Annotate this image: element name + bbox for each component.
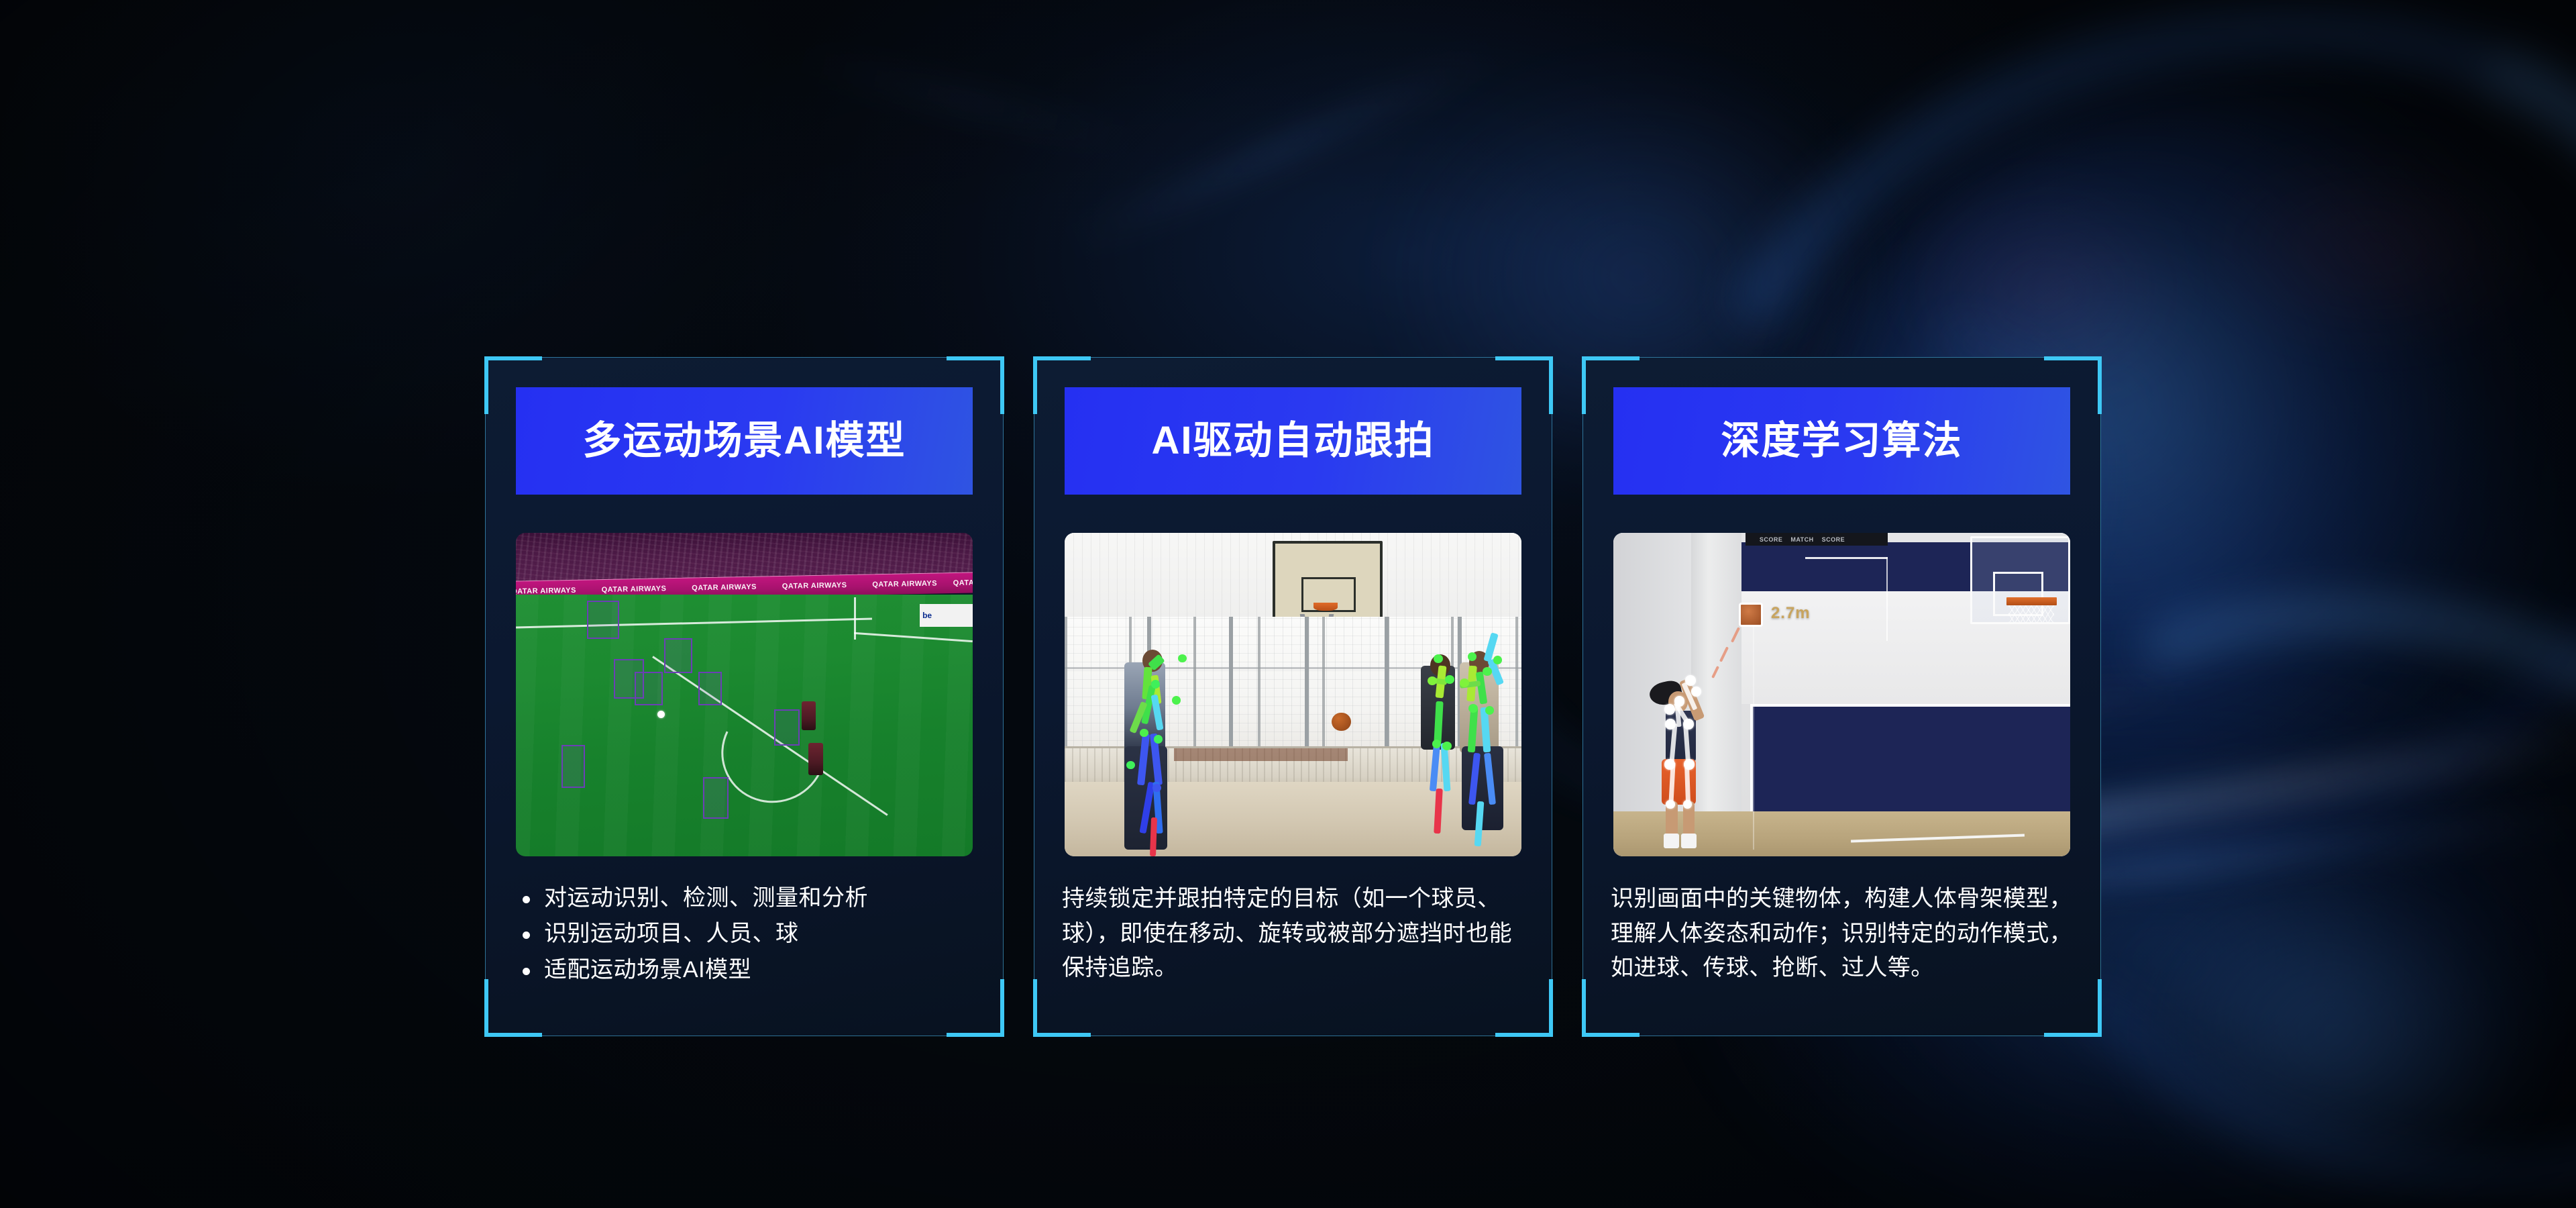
ad-text: QATAR AIRWAYS xyxy=(873,579,938,589)
height-measure-line xyxy=(1886,557,1888,641)
background-glow-red xyxy=(2200,161,2549,336)
card-title-banner: AI驱动自动跟拍 xyxy=(1065,387,1521,495)
detection-box xyxy=(635,672,662,705)
basketball-rim xyxy=(1313,603,1337,611)
detection-box xyxy=(561,745,585,788)
player-untracked xyxy=(802,701,816,730)
card-body: 对运动识别、检测、测量和分析 识别运动项目、人员、球 适配运动场景AI模型 xyxy=(513,882,976,989)
basketball-rim xyxy=(2006,597,2057,605)
window-mullion xyxy=(1385,617,1389,750)
card-title: 深度学习算法 xyxy=(1721,421,1962,460)
card-body: 持续锁定并跟拍特定的目标（如一个球员、球），即使在移动、旋转或被部分遮挡时也能保… xyxy=(1062,882,1525,986)
height-measure-bracket xyxy=(1805,557,1888,559)
card-title-banner: 深度学习算法 xyxy=(1613,387,2070,495)
card-description: 持续锁定并跟拍特定的目标（如一个球员、球），即使在移动、旋转或被部分遮挡时也能保… xyxy=(1062,882,1525,986)
card-title: 多运动场景AI模型 xyxy=(582,421,906,460)
court-shot-analysis-thumbnail[interactable]: SCORE MATCH SCORE 2.7m xyxy=(1613,533,2070,856)
basketball xyxy=(1332,713,1351,732)
list-item: 适配运动场景AI模型 xyxy=(513,954,976,987)
soccer-detection-thumbnail[interactable]: QATAR AIRWAYS QATAR AIRWAYS QATAR AIRWAY… xyxy=(516,533,973,856)
scoreboard: SCORE MATCH SCORE xyxy=(1746,533,1887,546)
measurement-label: 2.7m xyxy=(1771,604,1811,623)
list-item: 对运动识别、检测、测量和分析 xyxy=(513,882,976,915)
card-title: AI驱动自动跟拍 xyxy=(1151,421,1434,460)
card-body: 识别画面中的关键物体，构建人体骨架模型，理解人体姿态和动作；识别特定的动作模式，… xyxy=(1611,882,2074,986)
ground-reference-line xyxy=(1753,623,1754,850)
ad-text: QATAR AIRWAYS xyxy=(953,578,973,587)
feature-card-ai-auto-tracking[interactable]: AI驱动自动跟拍 xyxy=(1034,357,1552,1036)
ad-text: QATAR AIRWAYS xyxy=(692,583,757,592)
scoreboard-label: SCORE xyxy=(1760,536,1783,543)
card-description: 识别画面中的关键物体，构建人体骨架模型，理解人体姿态和动作；识别特定的动作模式，… xyxy=(1611,882,2074,986)
basketball-net xyxy=(2008,605,2054,623)
window-mullion xyxy=(1229,617,1233,750)
ball-detection-box xyxy=(1739,603,1763,627)
ad-text: QATAR AIRWAYS xyxy=(602,585,667,594)
sponsor-badge: be xyxy=(920,604,973,627)
player-shoe-left xyxy=(1664,834,1679,848)
feature-card-row: 多运动场景AI模型 QATAR AIRWAYS QATAR AIRWAYS QA… xyxy=(485,357,2102,1036)
radiator-shadow xyxy=(1174,748,1348,761)
detection-box xyxy=(664,638,692,673)
list-item: 识别运动项目、人员、球 xyxy=(513,917,976,950)
card-title-banner: 多运动场景AI模型 xyxy=(516,387,973,495)
detection-box xyxy=(698,672,722,705)
detection-box xyxy=(587,601,619,639)
feature-bullet-list: 对运动识别、检测、测量和分析 识别运动项目、人员、球 适配运动场景AI模型 xyxy=(513,882,976,987)
wall-column xyxy=(1691,533,1741,817)
gym-pose-tracking-thumbnail[interactable] xyxy=(1065,533,1521,856)
background-streak-5 xyxy=(795,52,1136,149)
feature-card-sports-ai-model[interactable]: 多运动场景AI模型 QATAR AIRWAYS QATAR AIRWAYS QA… xyxy=(485,357,1004,1036)
detection-box xyxy=(703,777,729,819)
scoreboard-label: SCORE xyxy=(1822,536,1845,543)
player-untracked xyxy=(808,743,823,775)
ad-text: QATAR AIRWAYS xyxy=(782,581,847,591)
background-streak-4 xyxy=(1063,46,1499,253)
scoreboard-label: MATCH xyxy=(1790,536,1813,543)
feature-card-deep-learning[interactable]: 深度学习算法 SCORE MATCH SCORE xyxy=(1582,357,2101,1036)
player-shoe-right xyxy=(1681,834,1697,848)
detection-box xyxy=(774,709,800,746)
wall-navy-padding xyxy=(1750,704,2070,813)
background-swirl-4 xyxy=(2133,872,2536,1195)
